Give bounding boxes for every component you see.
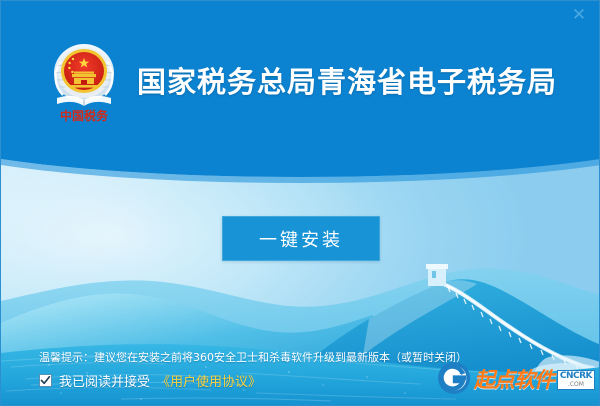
page-title: 国家税务总局青海省电子税务局 [137,68,557,97]
logo-caption: 中国税务 [60,108,109,123]
china-tax-emblem-icon: 中国税务 [45,40,123,126]
one-click-install-button[interactable]: 一键安装 [222,216,380,261]
cncrk-logo-icon [437,361,471,399]
close-icon[interactable]: ✕ [567,4,591,26]
checkmark-icon [40,375,51,386]
agreement-row: 我已阅读并接受 《用户使用协议》 [39,371,261,390]
site-watermark: 起点软件 CNCRK .COM [437,361,595,399]
cncrk-badge-bottom: .COM [568,382,584,388]
agreement-label: 我已阅读并接受 [59,371,150,390]
cncrk-badge: CNCRK .COM [557,370,595,390]
accept-agreement-checkbox[interactable] [39,374,52,387]
watermark-brand: 起点软件 [474,370,554,391]
cncrk-badge-top: CNCRK [560,372,592,381]
installer-window: 中国税务 国家税务总局青海省电子税务局 ✕ 一键安装 温馨提示：建议您在安装之前… [0,0,600,406]
header-content: 中国税务 国家税务总局青海省电子税务局 [1,1,600,161]
warm-tip-text: 温馨提示：建议您在安装之前将360安全卫士和杀毒软件升级到最新版本（或暂时关闭） [39,349,467,365]
user-agreement-link[interactable]: 《用户使用协议》 [157,371,261,390]
